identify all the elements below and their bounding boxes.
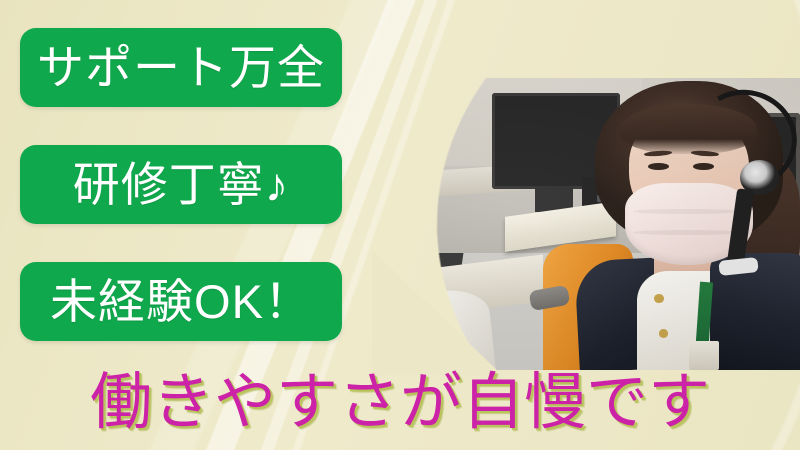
feature-badge-training-label: 研修丁寧♪ — [73, 161, 290, 208]
feature-badge-training: 研修丁寧♪ — [20, 145, 342, 224]
feature-badge-support-label: サポート万全 — [37, 44, 325, 91]
feature-badge-no-experience: 未経験OK！ — [20, 262, 342, 341]
feature-badge-support: サポート万全 — [20, 28, 342, 107]
feature-badge-no-experience-label: 未経験OK！ — [50, 278, 312, 325]
banner-headline: 働きやすさが自慢です — [0, 372, 800, 434]
job-ad-banner: サポート万全 研修丁寧♪ 未経験OK！ 働きやすさが自慢です — [0, 0, 800, 450]
